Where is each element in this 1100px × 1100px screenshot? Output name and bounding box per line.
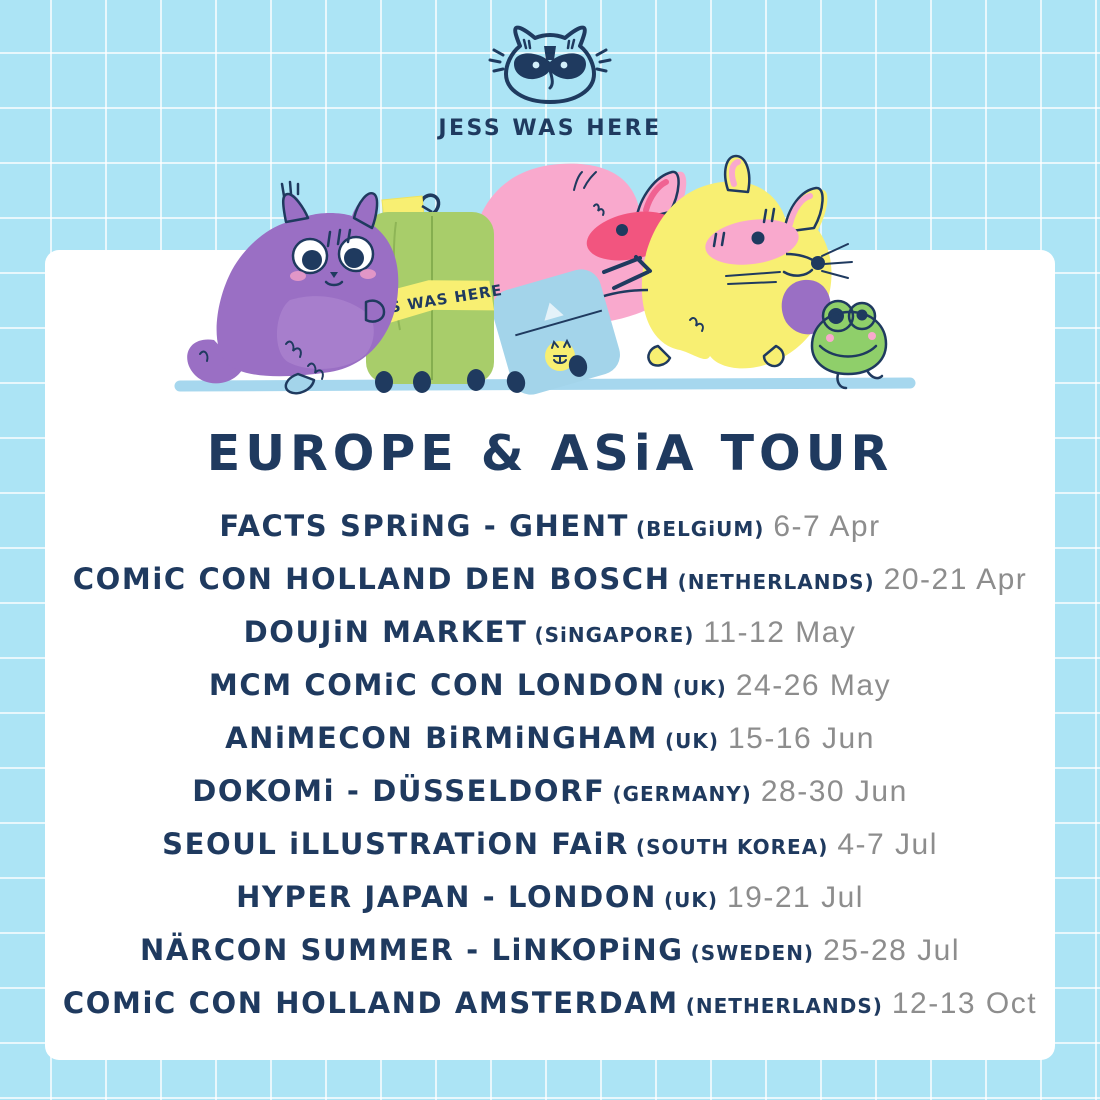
brand-logo: JESS WAS HERE (0, 24, 1100, 141)
event-date: 24-26 May (736, 669, 891, 702)
event-country: (UK) (664, 888, 718, 912)
event-date: 6-7 Apr (773, 510, 880, 543)
event-name: NÄRCON SUMMER - LiNKOPiNG (140, 933, 684, 967)
event-row: FACTS SPRiNG - GHENT(BELGiUM)6-7 Apr (0, 500, 1100, 553)
event-row: MCM COMiC CON LONDON(UK)24-26 May (0, 659, 1100, 712)
event-row: HYPER JAPAN - LONDON(UK)19-21 Jul (0, 871, 1100, 924)
tour-poster: JESS WAS HERE (0, 0, 1100, 1100)
event-date: 12-13 Oct (892, 987, 1037, 1020)
event-row: DOUJiN MARKET(SiNGAPORE)11-12 May (0, 606, 1100, 659)
event-date: 19-21 Jul (727, 881, 864, 914)
event-list: FACTS SPRiNG - GHENT(BELGiUM)6-7 Apr COM… (0, 500, 1100, 1030)
event-row: NÄRCON SUMMER - LiNKOPiNG(SWEDEN)25-28 J… (0, 924, 1100, 977)
event-country: (SWEDEN) (691, 941, 814, 965)
event-date: 15-16 Jun (728, 722, 875, 755)
event-country: (NETHERLANDS) (686, 994, 883, 1018)
event-name: MCM COMiC CON LONDON (209, 668, 666, 702)
event-row: SEOUL iLLUSTRATiON FAiR(SOUTH KOREA)4-7 … (0, 818, 1100, 871)
raccoon-face-icon (480, 24, 620, 110)
event-name: FACTS SPRiNG - GHENT (219, 509, 629, 543)
event-row: COMiC CON HOLLAND AMSTERDAM(NETHERLANDS)… (0, 977, 1100, 1030)
event-country: (BELGiUM) (636, 517, 764, 541)
event-date: 28-30 Jun (761, 775, 908, 808)
event-country: (NETHERLANDS) (678, 570, 875, 594)
event-country: (SiNGAPORE) (534, 623, 694, 647)
event-country: (GERMANY) (612, 782, 751, 806)
event-name: SEOUL iLLUSTRATiON FAiR (162, 827, 629, 861)
event-name: DOUJiN MARKET (244, 615, 528, 649)
event-name: COMiC CON HOLLAND AMSTERDAM (63, 986, 679, 1020)
event-date: 25-28 Jul (823, 934, 960, 967)
brand-name: JESS WAS HERE (0, 116, 1100, 141)
event-row: DOKOMi - DÜSSELDORF(GERMANY)28-30 Jun (0, 765, 1100, 818)
page-title: EUROPE & ASiA TOUR (0, 425, 1100, 482)
event-name: DOKOMi - DÜSSELDORF (192, 774, 605, 808)
event-row: ANiMECON BiRMiNGHAM(UK)15-16 Jun (0, 712, 1100, 765)
event-name: COMiC CON HOLLAND DEN BOSCH (73, 562, 671, 596)
event-row: COMiC CON HOLLAND DEN BOSCH(NETHERLANDS)… (0, 553, 1100, 606)
event-name: ANiMECON BiRMiNGHAM (225, 721, 658, 755)
event-country: (UK) (665, 729, 719, 753)
event-date: 11-12 May (703, 616, 856, 649)
event-country: (UK) (673, 676, 727, 700)
event-name: HYPER JAPAN - LONDON (236, 880, 657, 914)
event-country: (SOUTH KOREA) (636, 835, 828, 859)
event-date: 4-7 Jul (837, 828, 938, 861)
event-date: 20-21 Apr (884, 563, 1028, 596)
